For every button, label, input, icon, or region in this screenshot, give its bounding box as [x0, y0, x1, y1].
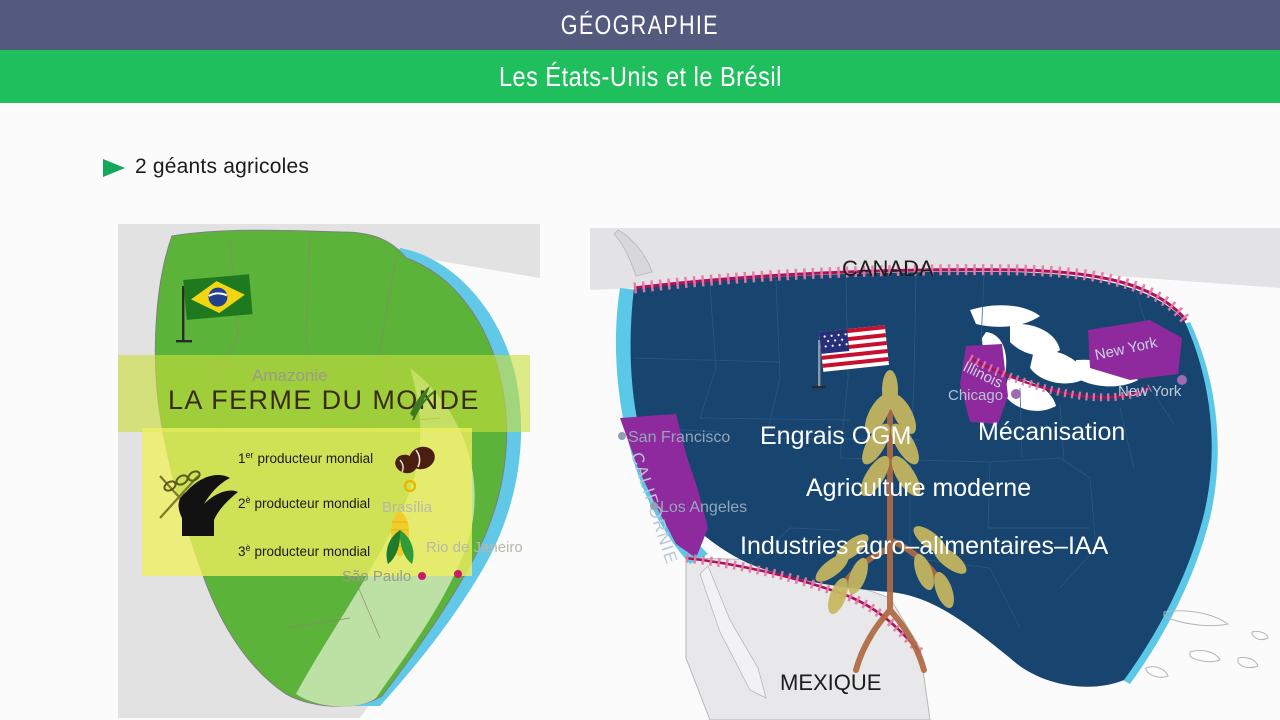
city-label-sao-paulo: São Paulo [342, 568, 411, 585]
ranking-row-3: 3èproducteur mondial [238, 543, 370, 559]
keyword-mecanisation: Mécanisation [978, 418, 1125, 446]
city-label-new-york-city: New York [1118, 383, 1182, 400]
label-mexique: MEXIQUE [780, 670, 881, 695]
svg-text:1erproducteur mondial: 1erproducteur mondial [238, 450, 373, 466]
lesson-title-band: Les États-Unis et le Brésil [0, 50, 1280, 103]
city-san-francisco: San Francisco [618, 429, 730, 446]
city-dot-icon [454, 570, 462, 578]
lesson-title: Les États-Unis et le Brésil [499, 61, 782, 93]
rank-text-2: producteur mondial [255, 496, 371, 511]
rank-text-3: producteur mondial [255, 544, 371, 559]
ranking-row-2: 2èproducteur mondial [238, 495, 370, 511]
subject-band: GÉOGRAPHIE [0, 0, 1280, 50]
brazil-agriculture-map: Amazonie LA FERME DU MONDE 1erproducteur… [110, 218, 540, 718]
rank-text-1: producteur mondial [258, 451, 374, 466]
bullet-label: 2 géants agricoles [135, 155, 309, 179]
label-canada: CANADA [842, 256, 934, 281]
city-label-los-angeles: Los Angeles [660, 499, 747, 516]
ranking-row-1: 1erproducteur mondial [238, 450, 373, 466]
rank-suffix-2: è [246, 495, 251, 505]
rank-number-1: 1 [238, 451, 246, 466]
svg-text:2èproducteur mondial: 2èproducteur mondial [238, 495, 370, 511]
svg-text:3èproducteur mondial: 3èproducteur mondial [238, 543, 370, 559]
keyword-engrais-ogm: Engrais OGM [760, 422, 911, 450]
keyword-agriculture-moderne: Agriculture moderne [806, 474, 1031, 502]
city-label-san-francisco: San Francisco [628, 429, 730, 446]
city-dot-icon [418, 572, 426, 580]
city-label-rio: Rio de Janeiro [426, 539, 523, 556]
rank-suffix-3: è [246, 543, 251, 553]
bullet-point: 2 géants agricoles [103, 155, 309, 179]
keyword-industries-iaa: Industries agro–alimentaires–IAA [740, 532, 1109, 560]
usa-agriculture-map: CANADA MEXIQUE CALIFORNIE Illinois New Y… [590, 228, 1280, 720]
rank-number-2: 2 [238, 496, 246, 511]
rank-number-3: 3 [238, 544, 246, 559]
arrow-right-icon [103, 159, 125, 177]
region-label-amazonie: Amazonie [252, 366, 328, 385]
city-los-angeles: Los Angeles [650, 499, 747, 516]
city-label-brasilia: Brasília [382, 499, 433, 516]
city-label-chicago: Chicago [948, 387, 1003, 404]
brazil-banner-text: LA FERME DU MONDE [168, 385, 480, 415]
rank-suffix-1: er [246, 450, 254, 460]
subject-title: GÉOGRAPHIE [561, 10, 719, 41]
